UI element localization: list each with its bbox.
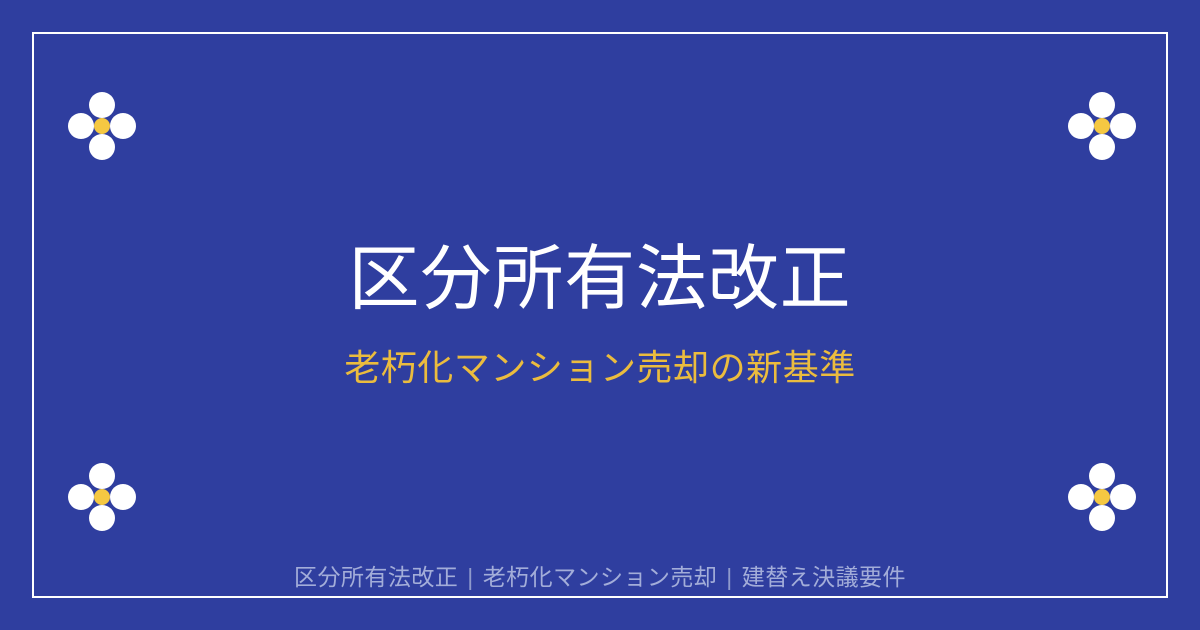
footer-keyword-separator: | [458,564,482,590]
ogp-card: 区分所有法改正 老朽化マンション売却の新基準 区分所有法改正|老朽化マンション売… [0,0,1200,630]
page-title: 区分所有法改正 [349,238,852,322]
headline-block: 区分所有法改正 老朽化マンション売却の新基準 [0,0,1200,630]
footer-keyword-separator: | [717,564,741,590]
footer-keyword-list: 区分所有法改正|老朽化マンション売却|建替え決議要件 [0,558,1200,592]
footer-keyword: 老朽化マンション売却 [483,564,718,590]
footer-keyword: 区分所有法改正 [294,564,458,590]
page-subtitle: 老朽化マンション売却の新基準 [344,345,856,392]
footer-keyword: 建替え決議要件 [742,564,906,590]
